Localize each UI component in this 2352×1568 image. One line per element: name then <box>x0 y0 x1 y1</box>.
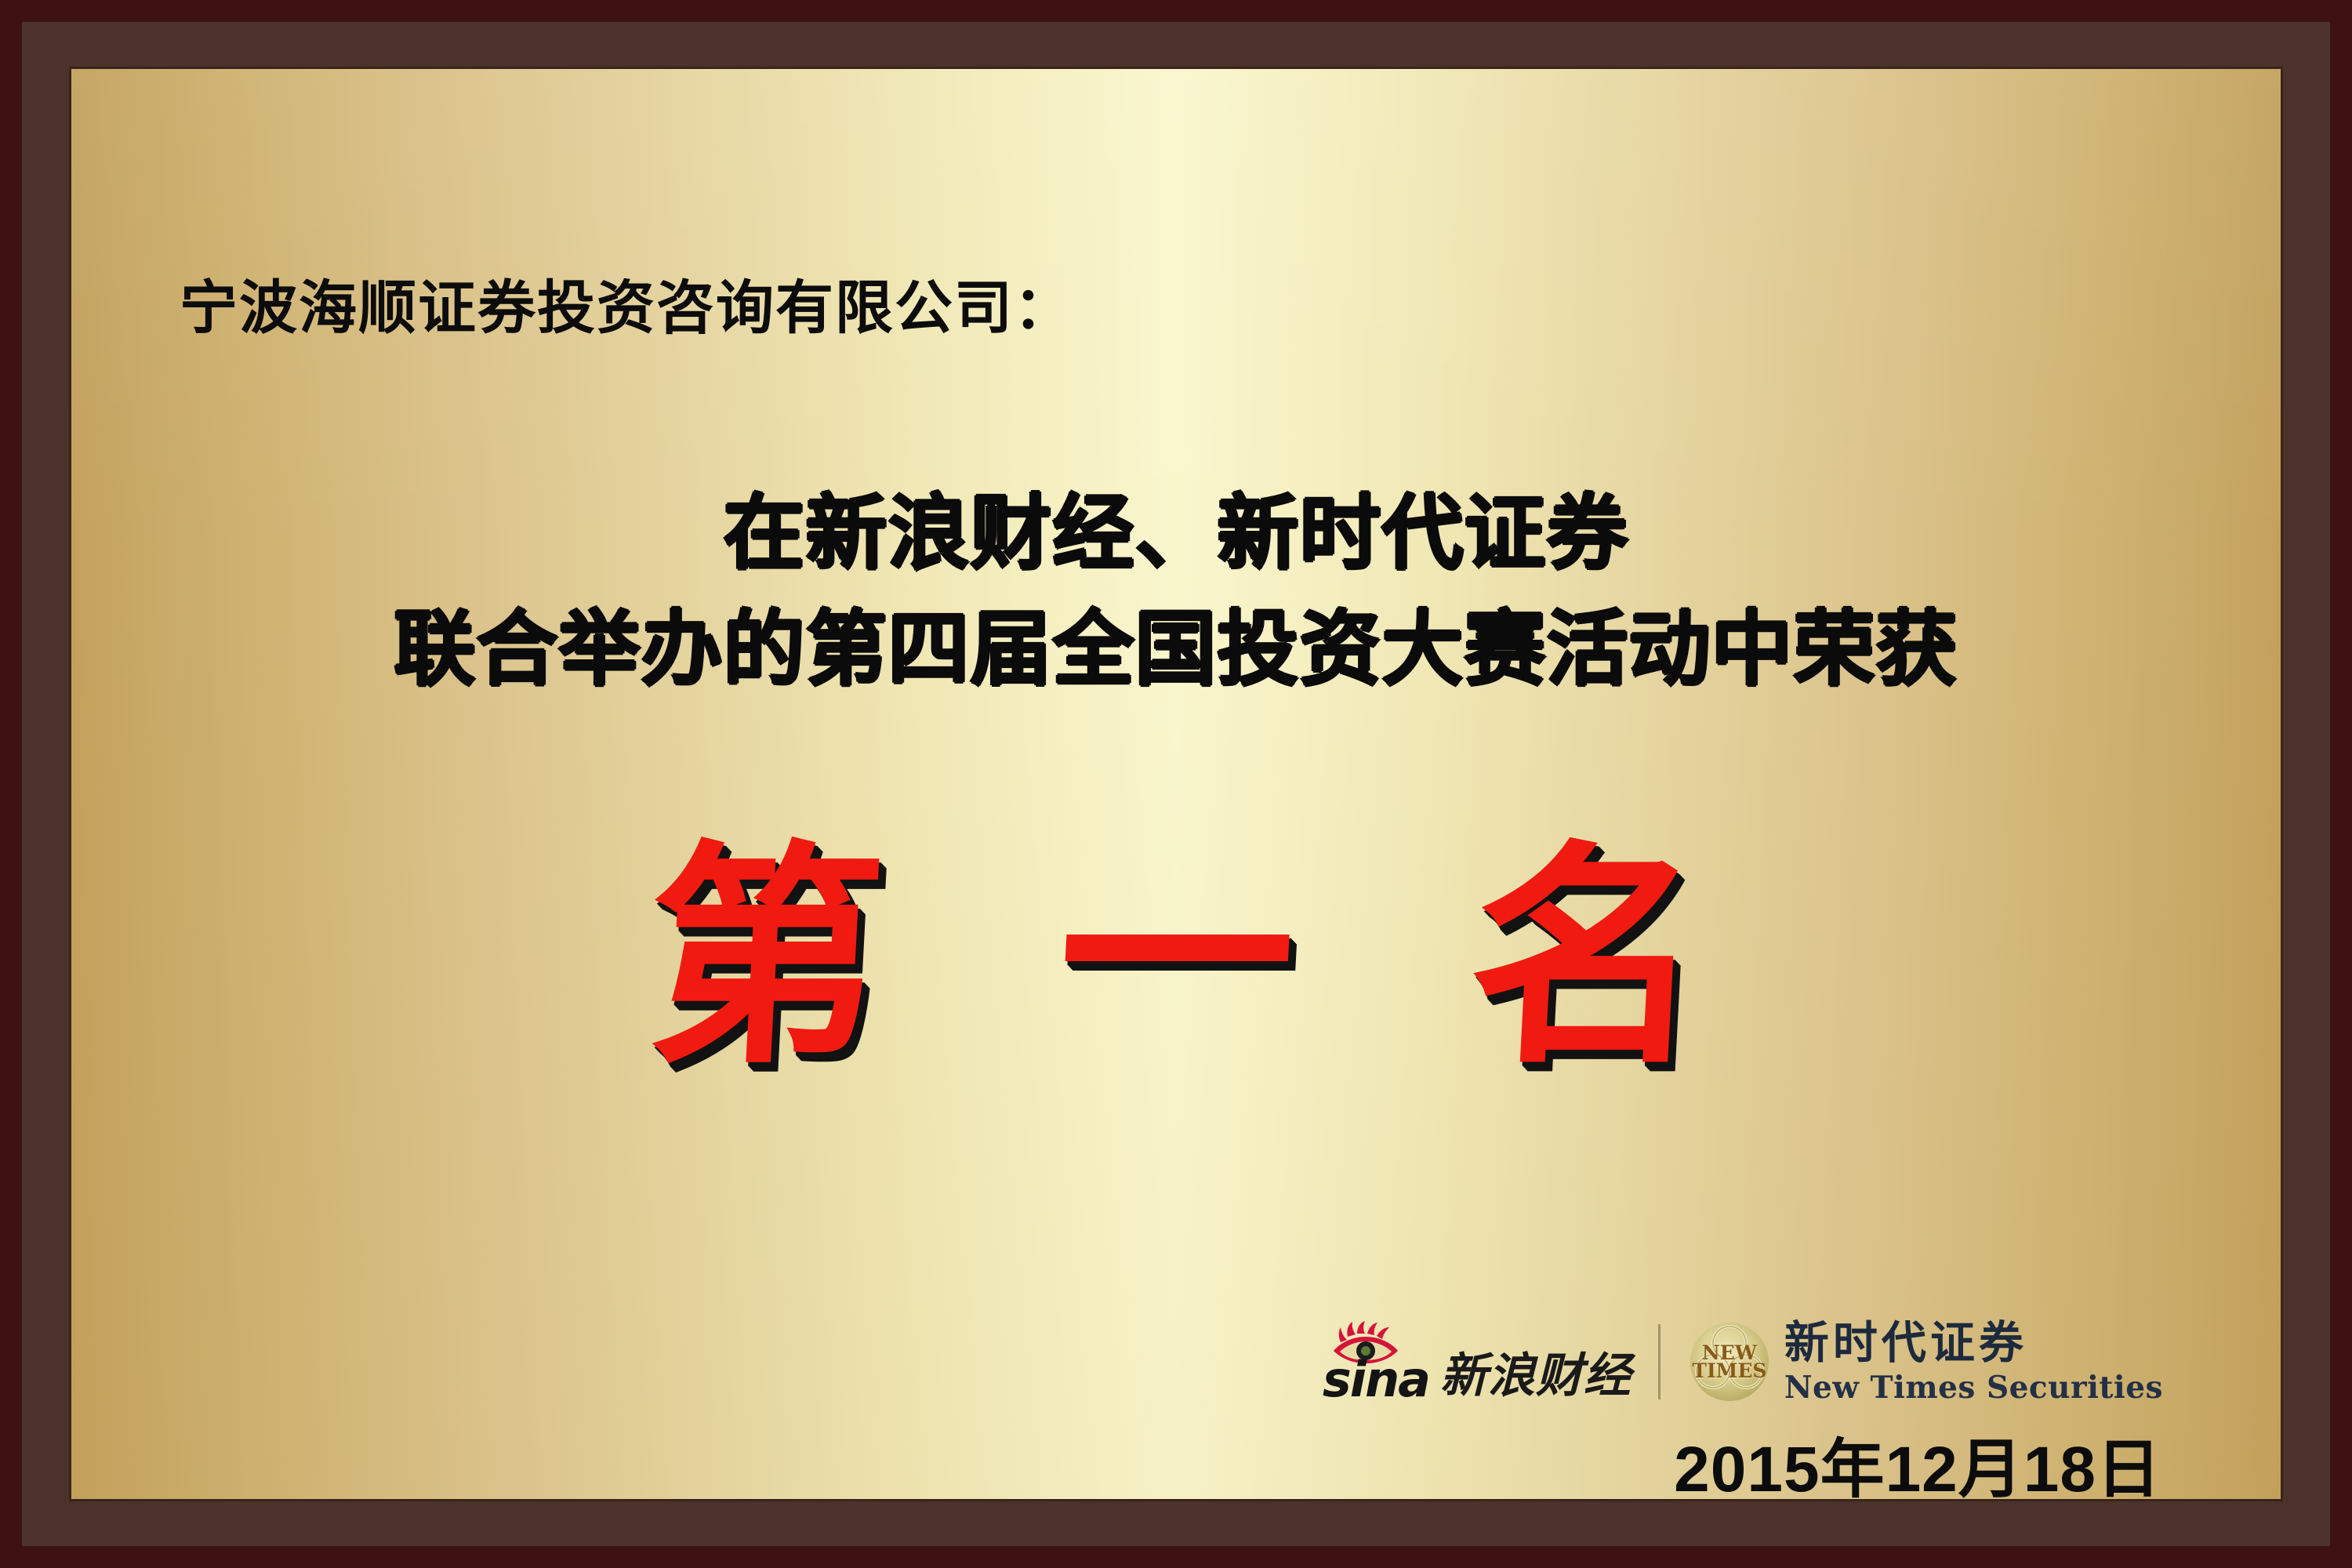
plaque-frame-bevel: 宁波海顺证券投资咨询有限公司： 在新浪财经、新时代证券 联合举办的第四届全国投资… <box>22 22 2330 1546</box>
plaque-content: 宁波海顺证券投资咨询有限公司： 在新浪财经、新时代证券 联合举办的第四届全国投资… <box>71 69 2281 1499</box>
new-times-chinese-name: 新时代证券 <box>1784 1320 2163 1367</box>
citation-line-1: 在新浪财经、新时代证券 <box>71 477 2281 593</box>
award-rank-headline: 第 一 名 <box>593 826 1759 1089</box>
logo-divider <box>1658 1324 1661 1399</box>
sina-mark: sina <box>1323 1321 1429 1403</box>
sina-wordmark: sina <box>1323 1356 1429 1404</box>
new-times-emblem-line2: TIMES <box>1692 1362 1766 1381</box>
new-times-securities-logo: NEW TIMES 新时代证券 New Times Securities <box>1687 1319 2163 1404</box>
recipient-salutation: 宁波海顺证券投资咨询有限公司： <box>180 279 1073 337</box>
new-times-emblem-icon: NEW TIMES <box>1687 1319 1772 1404</box>
sponsor-logos: sina 新浪财经 <box>1323 1319 2163 1404</box>
award-rank-wrapper: 第 一 名 <box>71 826 2281 1089</box>
new-times-emblem-label: NEW TIMES <box>1687 1319 1772 1404</box>
plaque-frame-inner-line: 宁波海顺证券投资咨询有限公司： 在新浪财经、新时代证券 联合举办的第四届全国投资… <box>69 67 2283 1501</box>
award-plaque: 宁波海顺证券投资咨询有限公司： 在新浪财经、新时代证券 联合举办的第四届全国投资… <box>0 0 2352 1568</box>
award-date: 2015年12月18日 <box>1674 1438 2161 1502</box>
citation-body: 在新浪财经、新时代证券 联合举办的第四届全国投资大赛活动中荣获 <box>71 477 2281 708</box>
sina-finance-chinese-name: 新浪财经 <box>1440 1352 1632 1403</box>
new-times-name-block: 新时代证券 New Times Securities <box>1784 1320 2163 1403</box>
sina-finance-logo: sina 新浪财经 <box>1323 1321 1632 1403</box>
new-times-english-name: New Times Securities <box>1784 1373 2163 1403</box>
citation-line-2: 联合举办的第四届全国投资大赛活动中荣获 <box>71 593 2281 709</box>
